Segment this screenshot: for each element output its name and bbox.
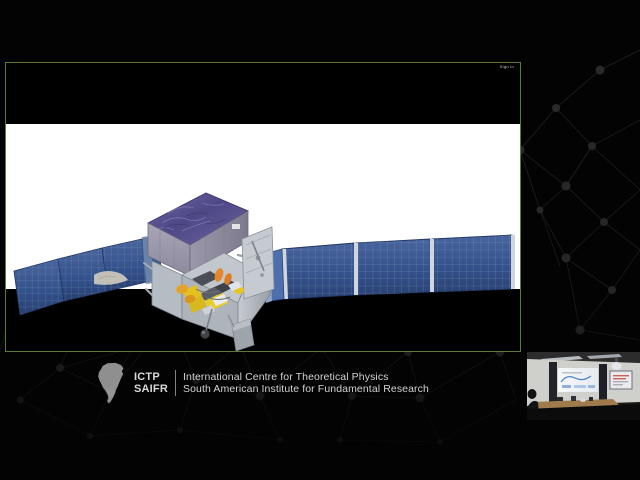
- stream-stage: Sign in: [0, 0, 640, 480]
- logo-divider: [175, 370, 176, 396]
- logo-full-name: International Centre for Theoretical Phy…: [183, 371, 429, 396]
- logo-acronym-saifr: SAIFR: [134, 383, 168, 396]
- logo-full-line2: South American Institute for Fundamental…: [183, 383, 429, 396]
- logo-full-line1: International Centre for Theoretical Phy…: [183, 371, 429, 384]
- solar-array-left: [14, 236, 162, 315]
- sign-in-link[interactable]: Sign in: [500, 64, 514, 70]
- lecture-hall-camera-feed[interactable]: [527, 352, 640, 420]
- ictp-saifr-logo: ICTP SAIFR International Centre for Theo…: [95, 362, 429, 404]
- presentation-slide-frame[interactable]: Sign in: [5, 62, 521, 352]
- south-america-map-icon: [95, 362, 129, 404]
- fermi-satellite-illustration: [6, 63, 520, 352]
- logo-acronym: ICTP SAIFR: [134, 371, 168, 396]
- logo-acronym-ictp: ICTP: [134, 371, 168, 384]
- solar-array-right: [264, 235, 515, 303]
